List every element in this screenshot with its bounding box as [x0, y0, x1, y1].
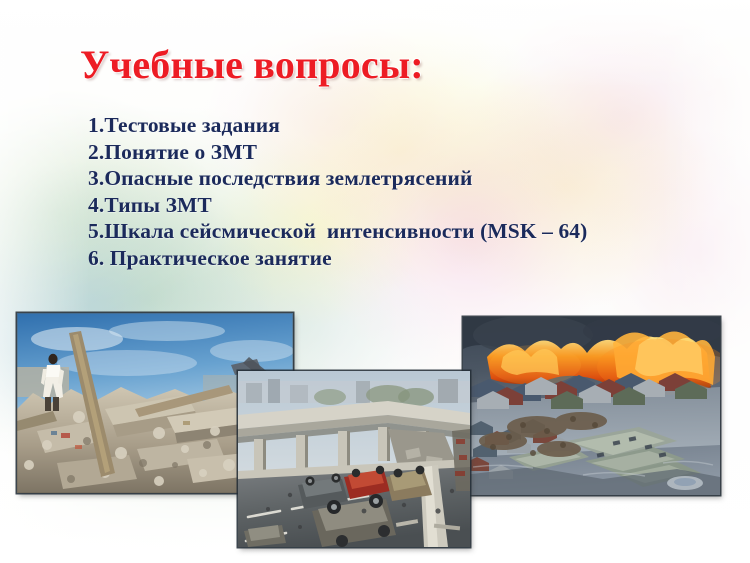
- list-item: 4.Типы ЗМТ: [88, 192, 708, 219]
- photo-collapsed-highway: [238, 371, 470, 547]
- list-item: 3.Опасные последствия землетрясений: [88, 165, 708, 192]
- slide-canvas: Учебные вопросы: 1.Тестовые задания 2.По…: [0, 0, 750, 563]
- list-item: 1.Тестовые задания: [88, 112, 708, 139]
- list-item: 2.Понятие о ЗМТ: [88, 139, 708, 166]
- list-item: 5.Шкала сейсмической интенсивности (MSK …: [88, 218, 708, 245]
- question-list: 1.Тестовые задания 2.Понятие о ЗМТ 3.Опа…: [88, 112, 708, 271]
- collapsed-highway-illustration: [238, 371, 470, 547]
- tsunami-fire-illustration: [463, 317, 720, 495]
- list-item: 6. Практическое занятие: [88, 245, 708, 272]
- slide-title: Учебные вопросы:: [80, 44, 424, 86]
- photo-tsunami-fire-aerial: [463, 317, 720, 495]
